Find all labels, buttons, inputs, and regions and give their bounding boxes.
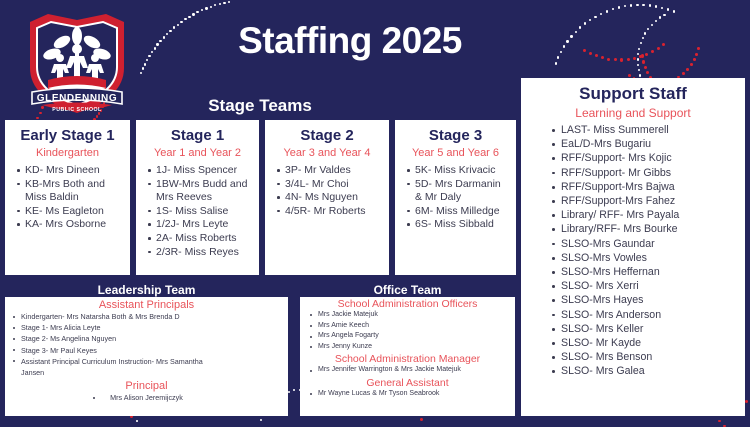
sam-label: School Administration Manager (300, 353, 515, 365)
list-item: Mrs Amie Keech (300, 321, 515, 332)
list-item: Kindergarten- Mrs Natarsha Both & Mrs Br… (5, 311, 288, 322)
list-item: Mrs Jackie Matejuk (300, 310, 515, 321)
list-item: 5D- Mrs Darmanin (395, 178, 516, 191)
stage-card-subtitle: Year 5 and Year 6 (395, 147, 516, 159)
list-item: Jansen (5, 367, 288, 378)
support-staff-subtitle: Learning and Support (521, 106, 745, 120)
list-item: RFF/Support- Mr Gibbs (521, 166, 745, 180)
list-item: 4N- Ms Nguyen (265, 191, 389, 204)
list-item: 5K- Miss Krivacic (395, 164, 516, 177)
list-item: Mrs Alison Jeremijczyk (5, 392, 288, 403)
stage-card-title: Stage 3 (395, 127, 516, 144)
list-item: SLSO- Mr Kayde (521, 336, 745, 350)
list-item: Mrs Jenny Kunze (300, 342, 515, 353)
stage-card-stage-2: Stage 2 Year 3 and Year 4 3P- Mr Valdes … (265, 120, 389, 275)
list-item: Stage 2- Ms Angelina Nguyen (5, 333, 288, 344)
list-item: 6M- Miss Milledge (395, 205, 516, 218)
stage-card-title: Stage 1 (136, 127, 259, 144)
ga-list: Mr Wayne Lucas & Mr Tyson Seabrook (300, 389, 515, 400)
support-staff-card: Support Staff Learning and Support LAST-… (521, 78, 745, 416)
list-item: 1/2J- Mrs Leyte (136, 218, 259, 231)
list-item: KE- Ms Eagleton (5, 205, 130, 218)
support-staff-list: LAST- Miss SummerellEaL/D-Mrs BugariuRFF… (521, 123, 745, 379)
list-item: SLSO- Mrs Xerri (521, 279, 745, 293)
office-team-heading: Office Team (300, 283, 515, 297)
list-item: SLSO- Mrs Anderson (521, 308, 745, 322)
support-staff-title: Support Staff (521, 84, 745, 104)
list-item: Stage 3- Mr Paul Keyes (5, 345, 288, 356)
stage-card-stage-1: Stage 1 Year 1 and Year 2 1J- Miss Spenc… (136, 120, 259, 275)
principal-list: Mrs Alison Jeremijczyk (5, 392, 288, 403)
stage-card-subtitle: Kindergarten (5, 147, 130, 159)
sam-list: Mrs Jennifer Warrington & Mrs Jackie Mat… (300, 365, 515, 376)
list-item: 6S- Miss Sibbald (395, 218, 516, 231)
sao-list: Mrs Jackie MatejukMrs Amie KeechMrs Ange… (300, 310, 515, 352)
list-item: SLSO- Mrs Galea (521, 364, 745, 378)
list-item: Mr Wayne Lucas & Mr Tyson Seabrook (300, 389, 515, 400)
stage-card-subtitle: Year 3 and Year 4 (265, 147, 389, 159)
list-item: & Mr Daly (395, 191, 516, 204)
stage-card-list: KD- Mrs Dineen KB-Mrs Both and Miss Bald… (5, 164, 130, 231)
list-item: Mrs Reeves (136, 191, 259, 204)
list-item: EaL/D-Mrs Bugariu (521, 137, 745, 151)
list-item: SLSO- Mrs Keller (521, 322, 745, 336)
list-item: Library/RFF- Mrs Bourke (521, 222, 745, 236)
list-item: SLSO- Mrs Benson (521, 350, 745, 364)
list-item: 1BW-Mrs Budd and (136, 178, 259, 191)
list-item: SLSO-Mrs Heffernan (521, 265, 745, 279)
list-item: KA- Mrs Osborne (5, 218, 130, 231)
list-item: Library/ RFF- Mrs Payala (521, 208, 745, 222)
assistant-principals-label: Assistant Principals (5, 299, 288, 311)
crest-banner-text: GLENDENNING (37, 93, 118, 104)
leadership-team-heading: Leadership Team (5, 283, 288, 297)
list-item: 2/3R- Miss Reyes (136, 246, 259, 259)
crest-sub-text: PUBLIC SCHOOL (52, 107, 102, 113)
stage-teams-heading: Stage Teams (110, 96, 410, 116)
stage-card-list: 3P- Mr Valdes 3/4L- Mr Choi 4N- Ms Nguye… (265, 164, 389, 217)
stage-card-list: 5K- Miss Krivacic 5D- Mrs Darmanin & Mr … (395, 164, 516, 231)
list-item: 2A- Miss Roberts (136, 232, 259, 245)
list-item: 1S- Miss Salise (136, 205, 259, 218)
list-item: SLSO-Mrs Hayes (521, 293, 745, 307)
list-item: SLSO-Mrs Vowles (521, 251, 745, 265)
list-item: RFF/Support- Mrs Kojic (521, 151, 745, 165)
list-item: Mrs Jennifer Warrington & Mrs Jackie Mat… (300, 365, 515, 376)
leadership-team-card: Assistant Principals Kindergarten- Mrs N… (5, 297, 288, 416)
list-item: LAST- Miss Summerell (521, 123, 745, 137)
page-title: Staffing 2025 (170, 20, 530, 62)
poster-root: GLENDENNING PUBLIC SCHOOL Staffing 2025 … (0, 0, 750, 422)
list-item: 3P- Mr Valdes (265, 164, 389, 177)
principal-label: Principal (5, 380, 288, 392)
list-item: 4/5R- Mr Roberts (265, 205, 389, 218)
stage-card-list: 1J- Miss Spencer 1BW-Mrs Budd and Mrs Re… (136, 164, 259, 258)
list-item: Miss Baldin (5, 191, 130, 204)
list-item: Mrs Angela Fogarty (300, 331, 515, 342)
list-item: Stage 1- Mrs Alicia Leyte (5, 322, 288, 333)
list-item: 1J- Miss Spencer (136, 164, 259, 177)
sao-label: School Administration Officers (300, 298, 515, 310)
list-item: SLSO-Mrs Gaundar (521, 237, 745, 251)
list-item: 3/4L- Mr Choi (265, 178, 389, 191)
ga-label: General Assistant (300, 377, 515, 389)
stage-card-title: Early Stage 1 (5, 127, 130, 144)
list-item: KB-Mrs Both and (5, 178, 130, 191)
stage-card-early-stage-1: Early Stage 1 Kindergarten KD- Mrs Dinee… (5, 120, 130, 275)
stage-card-subtitle: Year 1 and Year 2 (136, 147, 259, 159)
list-item: KD- Mrs Dineen (5, 164, 130, 177)
stage-card-stage-3: Stage 3 Year 5 and Year 6 5K- Miss Kriva… (395, 120, 516, 275)
list-item: RFF/Support-Mrs Bajwa (521, 180, 745, 194)
list-item: RFF/Support-Mrs Fahez (521, 194, 745, 208)
assistant-principals-list: Kindergarten- Mrs Natarsha Both & Mrs Br… (5, 311, 288, 378)
stage-card-title: Stage 2 (265, 127, 389, 144)
list-item: Assistant Principal Curriculum Instructi… (5, 356, 288, 367)
office-team-card: School Administration Officers Mrs Jacki… (300, 297, 515, 416)
